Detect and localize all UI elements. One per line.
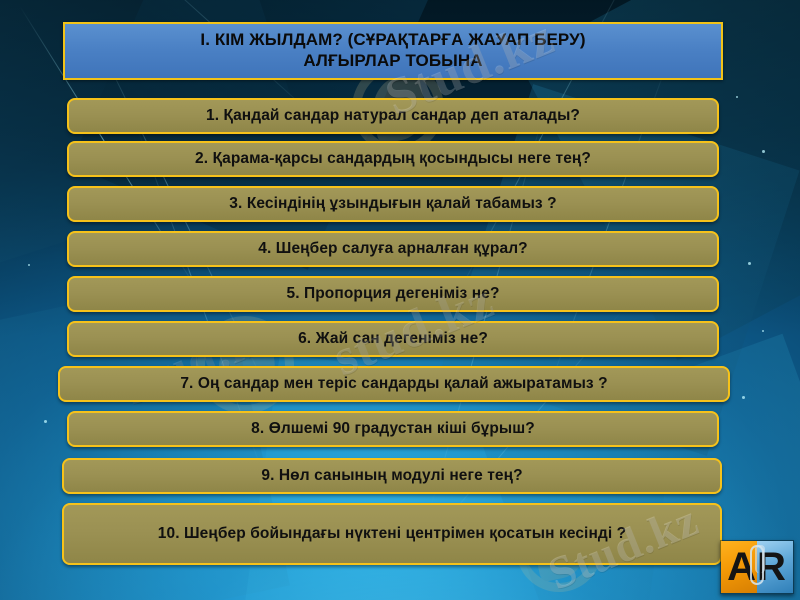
presentation-slide: stud.kz I. КІМ ЖЫЛДАМ? (СҰРАҚТАРҒА ЖАУАП…: [0, 0, 800, 600]
background-sparkle: [736, 96, 738, 98]
question-text-6: 6. Жай сан дегеніміз не?: [288, 329, 498, 348]
background-sparkle: [762, 330, 764, 332]
question-text-7: 7. Оң сандар мен теріс сандарды қалай аж…: [170, 374, 617, 393]
question-box-6[interactable]: 6. Жай сан дегеніміз не?: [67, 321, 719, 357]
question-text-5: 5. Пропорция дегеніміз не?: [276, 284, 509, 303]
ar-logo-button[interactable]: A R: [720, 540, 794, 594]
question-text-3: 3. Кесіндінің ұзындығын қалай табамыз ?: [219, 194, 566, 213]
question-box-2[interactable]: 2. Қарама-қарсы сандардың қосындысы неге…: [67, 141, 719, 177]
question-text-1: 1. Қандай сандар натурал сандар деп атал…: [196, 106, 590, 125]
question-text-8: 8. Өлшемі 90 градустан кіші бұрыш?: [241, 419, 545, 438]
background-sparkle: [748, 262, 751, 265]
slide-title: I. КІМ ЖЫЛДАМ? (СҰРАҚТАРҒА ЖАУАП БЕРУ) А…: [192, 30, 593, 71]
question-box-9[interactable]: 9. Нөл санының модулі неге тең?: [62, 458, 722, 494]
slide-title-line-1: I. КІМ ЖЫЛДАМ? (СҰРАҚТАРҒА ЖАУАП БЕРУ): [200, 30, 585, 51]
question-box-10[interactable]: 10. Шеңбер бойындағы нүктені центрімен қ…: [62, 503, 722, 565]
question-box-5[interactable]: 5. Пропорция дегеніміз не?: [67, 276, 719, 312]
question-box-4[interactable]: 4. Шеңбер салуға арналған құрал?: [67, 231, 719, 267]
question-text-2: 2. Қарама-қарсы сандардың қосындысы неге…: [185, 149, 601, 168]
paperclip-icon: [750, 545, 764, 585]
question-box-3[interactable]: 3. Кесіндінің ұзындығын қалай табамыз ?: [67, 186, 719, 222]
question-text-9: 9. Нөл санының модулі неге тең?: [251, 466, 532, 485]
question-box-7[interactable]: 7. Оң сандар мен теріс сандарды қалай аж…: [58, 366, 730, 402]
background-sparkle: [28, 264, 30, 266]
slide-title-box: I. КІМ ЖЫЛДАМ? (СҰРАҚТАРҒА ЖАУАП БЕРУ) А…: [63, 22, 723, 80]
question-box-1[interactable]: 1. Қандай сандар натурал сандар деп атал…: [67, 98, 719, 134]
background-sparkle: [762, 150, 765, 153]
question-text-10: 10. Шеңбер бойындағы нүктені центрімен қ…: [148, 524, 637, 543]
question-text-4: 4. Шеңбер салуға арналған құрал?: [248, 239, 537, 258]
background-sparkle: [742, 396, 745, 399]
background-sparkle: [44, 420, 47, 423]
slide-title-line-2: АЛҒЫРЛАР ТОБЫНА: [200, 51, 585, 72]
question-box-8[interactable]: 8. Өлшемі 90 градустан кіші бұрыш?: [67, 411, 719, 447]
